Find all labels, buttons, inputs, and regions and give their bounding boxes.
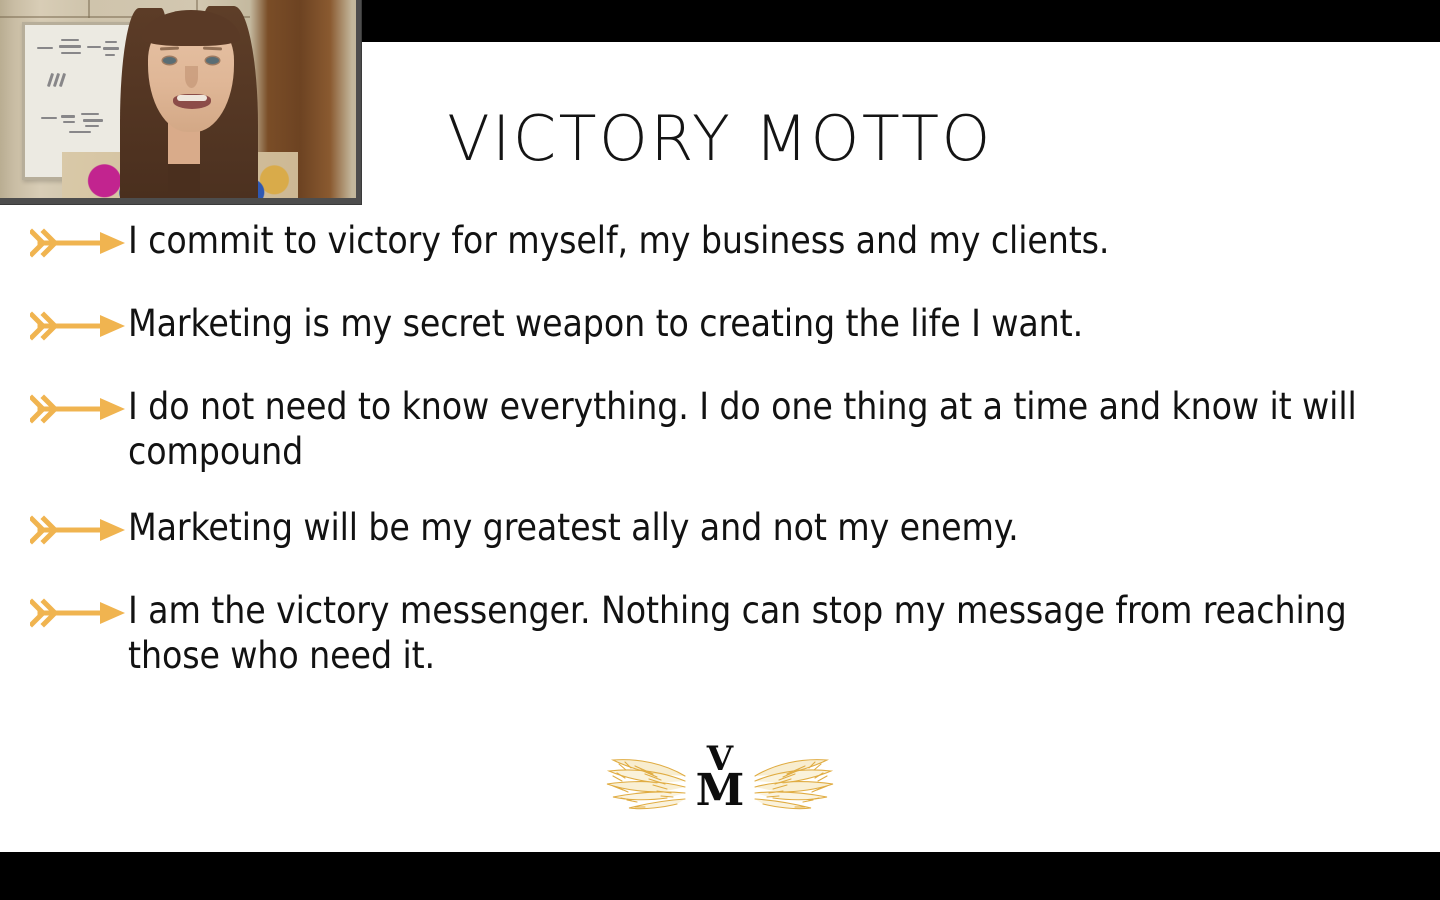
presenter-teeth: [177, 95, 207, 101]
arrow-right-fletched-icon: [0, 588, 128, 630]
presenter-eye-right: [206, 57, 219, 64]
arrow-right-fletched-icon: [0, 301, 128, 343]
list-item-label: I am the victory messenger. Nothing can …: [128, 588, 1440, 678]
webcam-overlay[interactable]: [0, 0, 362, 205]
list-item-label: Marketing will be my greatest ally and n…: [128, 505, 1440, 550]
list-item: Marketing will be my greatest ally and n…: [0, 505, 1440, 550]
webcam-video-feed[interactable]: [0, 0, 356, 198]
presenter-mouth: [173, 94, 211, 109]
list-item: I commit to victory for myself, my busin…: [0, 218, 1440, 263]
winged-vm-monogram-logo: V M: [595, 742, 845, 826]
list-item: Marketing is my secret weapon to creatin…: [0, 301, 1440, 346]
arrow-right-fletched-icon: [0, 505, 128, 547]
arrow-right-fletched-icon: [0, 384, 128, 426]
presenter-eye-left: [163, 57, 176, 64]
motto-bullet-list: I commit to victory for myself, my busin…: [0, 218, 1440, 708]
list-item: I am the victory messenger. Nothing can …: [0, 588, 1440, 678]
list-item: I do not need to know everything. I do o…: [0, 384, 1440, 474]
monogram-letter-m: M: [595, 771, 845, 811]
list-item-label: Marketing is my secret weapon to creatin…: [128, 301, 1440, 346]
arrow-right-fletched-icon: [0, 218, 128, 260]
brand-logo: V M: [0, 742, 1440, 826]
letterbox-bar-bottom: [0, 852, 1440, 900]
vm-monogram: V M: [595, 744, 845, 810]
presenter-nose: [185, 66, 198, 88]
list-item-label: I do not need to know everything. I do o…: [128, 384, 1440, 474]
presentation-stage: VICTORY MOTTO I commit to victory for my…: [0, 0, 1440, 900]
list-item-label: I commit to victory for myself, my busin…: [128, 218, 1440, 263]
